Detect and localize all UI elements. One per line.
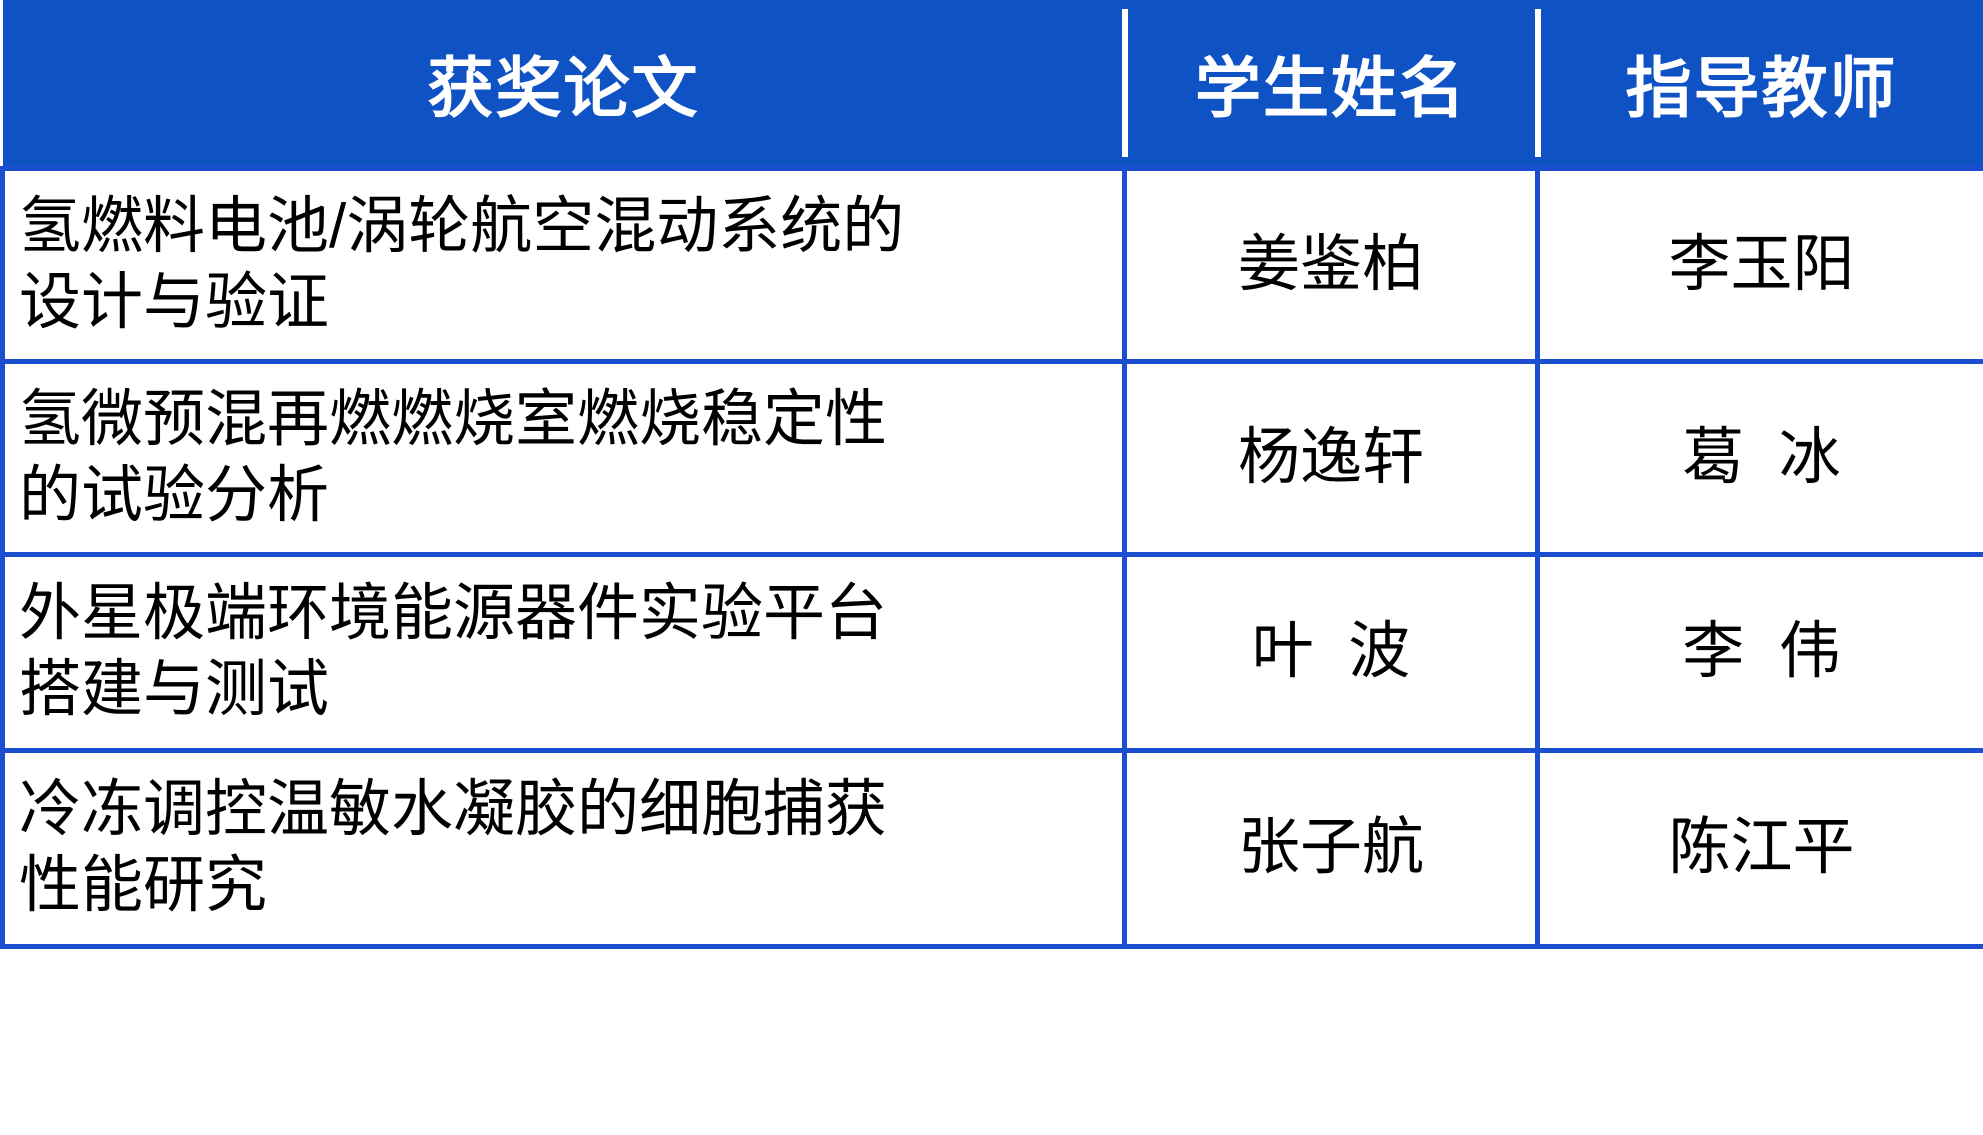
table-header-row: 获奖论文 学生姓名 指导教师 xyxy=(3,0,1983,168)
table-row: 氢燃料电池/涡轮航空混动系统的 设计与验证 姜鉴柏 李玉阳 xyxy=(3,168,1983,361)
cell-teacher-name: 葛 冰 xyxy=(1538,361,1983,554)
cell-teacher-name: 李 伟 xyxy=(1538,554,1983,750)
column-header-student: 学生姓名 xyxy=(1125,0,1538,168)
table-row: 氢微预混再燃燃烧室燃烧稳定性 的试验分析 杨逸轩 葛 冰 xyxy=(3,361,1983,554)
table-header: 获奖论文 学生姓名 指导教师 xyxy=(3,0,1983,168)
cell-paper-title: 氢微预混再燃燃烧室燃烧稳定性 的试验分析 xyxy=(3,361,1125,554)
table-row: 外星极端环境能源器件实验平台 搭建与测试 叶 波 李 伟 xyxy=(3,554,1983,750)
table-row: 冷冻调控温敏水凝胶的细胞捕获 性能研究 张子航 陈江平 xyxy=(3,750,1983,946)
cell-paper-title: 氢燃料电池/涡轮航空混动系统的 设计与验证 xyxy=(3,168,1125,361)
cell-student-name: 姜鉴柏 xyxy=(1125,168,1538,361)
cell-student-name: 杨逸轩 xyxy=(1125,361,1538,554)
table-body: 氢燃料电池/涡轮航空混动系统的 设计与验证 姜鉴柏 李玉阳 氢微预混再燃燃烧室燃… xyxy=(3,168,1983,946)
cell-student-name: 张子航 xyxy=(1125,750,1538,946)
cell-paper-title: 外星极端环境能源器件实验平台 搭建与测试 xyxy=(3,554,1125,750)
cell-paper-title: 冷冻调控温敏水凝胶的细胞捕获 性能研究 xyxy=(3,750,1125,946)
cell-teacher-name: 李玉阳 xyxy=(1538,168,1983,361)
cell-student-name: 叶 波 xyxy=(1125,554,1538,750)
column-header-paper: 获奖论文 xyxy=(3,0,1125,168)
column-header-teacher: 指导教师 xyxy=(1538,0,1983,168)
cell-teacher-name: 陈江平 xyxy=(1538,750,1983,946)
award-papers-table: 获奖论文 学生姓名 指导教师 氢燃料电池/涡轮航空混动系统的 设计与验证 姜鉴柏… xyxy=(0,0,1983,949)
